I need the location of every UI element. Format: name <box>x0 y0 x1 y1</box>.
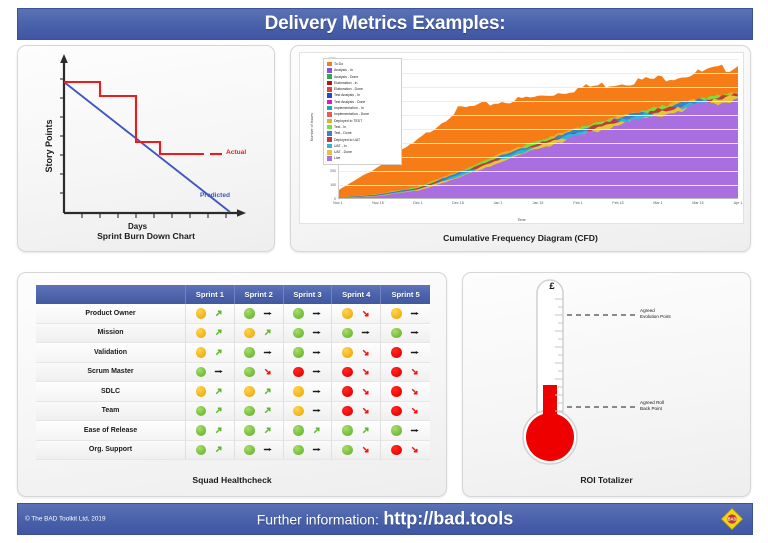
burndown-y-label: Story Points <box>44 119 54 172</box>
trend-up-arrow-icon <box>213 347 224 358</box>
cfd-legend-item: Live <box>327 155 399 161</box>
trend-up-arrow-icon <box>213 444 224 455</box>
trend-down-arrow-icon <box>409 405 420 416</box>
healthcheck-cell[interactable] <box>284 382 333 402</box>
cfd-x-tick-label: Jan 15 <box>533 201 544 205</box>
page-title: Delivery Metrics Examples: <box>265 13 506 35</box>
rag-status-amber <box>196 328 207 339</box>
healthcheck-cell[interactable] <box>235 402 284 422</box>
cfd-legend-swatch <box>327 137 332 142</box>
healthcheck-cell[interactable] <box>186 382 235 402</box>
cfd-legend: To DoAnalysis - InAnalysis - DoneElabora… <box>323 58 402 165</box>
table-row: Org. Support <box>36 441 430 461</box>
trend-up-arrow-icon <box>213 405 224 416</box>
rag-status-amber <box>342 308 353 319</box>
trend-flat-arrow-icon <box>409 347 420 358</box>
healthcheck-cell[interactable] <box>186 421 235 441</box>
evolution-point-label-line1: Agreed <box>640 308 655 313</box>
cfd-x-tick-label: Mar 1 <box>653 201 662 205</box>
trend-down-arrow-icon <box>360 444 371 455</box>
cfd-y-tick-label: 100 <box>330 183 336 187</box>
healthcheck-cell[interactable] <box>235 304 284 324</box>
rag-status-red <box>342 406 353 417</box>
healthcheck-cell[interactable] <box>235 441 284 461</box>
cfd-legend-swatch <box>327 125 332 130</box>
cfd-legend-label: Live <box>334 155 340 162</box>
cfd-legend-swatch <box>327 74 332 79</box>
trend-down-arrow-icon <box>360 347 371 358</box>
trend-flat-arrow-icon <box>262 347 273 358</box>
trend-flat-arrow-icon <box>311 347 322 358</box>
rag-status-green <box>293 308 304 319</box>
trend-flat-arrow-icon <box>311 405 322 416</box>
footer-bar: © The BAD Toolkit Ltd, 2019 Further info… <box>17 503 753 535</box>
healthcheck-cell[interactable] <box>235 382 284 402</box>
rag-status-green <box>293 347 304 358</box>
rag-status-amber <box>293 406 304 417</box>
cfd-legend-swatch <box>327 87 332 92</box>
healthcheck-table: Sprint 1Sprint 2Sprint 3Sprint 4Sprint 5… <box>36 285 430 460</box>
trend-down-arrow-icon <box>409 386 420 397</box>
healthcheck-cell[interactable] <box>332 363 381 383</box>
cfd-x-tick-label: Jan 1 <box>494 201 503 205</box>
trend-up-arrow-icon <box>213 386 224 397</box>
rollback-point-label-line2: Back Point <box>640 406 662 411</box>
healthcheck-cell[interactable] <box>381 382 430 402</box>
healthcheck-row-label: Product Owner <box>36 304 186 324</box>
cfd-legend-label: Analysis - In <box>334 67 353 74</box>
healthcheck-col-header-sprint-3: Sprint 3 <box>284 285 333 304</box>
rag-status-green <box>342 445 353 456</box>
rag-status-green <box>391 425 402 436</box>
rag-status-red <box>342 386 353 397</box>
healthcheck-cell[interactable] <box>284 441 333 461</box>
page-title-bar: Delivery Metrics Examples: <box>17 8 753 40</box>
trend-down-arrow-icon <box>262 366 273 377</box>
cfd-legend-swatch <box>327 100 332 105</box>
cfd-x-tick-label: Dec 1 <box>413 201 422 205</box>
trend-flat-arrow-icon <box>262 444 273 455</box>
cfd-gridline <box>338 185 738 186</box>
trend-flat-arrow-icon <box>311 327 322 338</box>
thermometer-graphic <box>463 273 752 498</box>
trend-flat-arrow-icon <box>360 327 371 338</box>
trend-flat-arrow-icon <box>311 444 322 455</box>
rag-status-green <box>196 406 207 417</box>
predicted-series-label: Predicted <box>200 192 230 199</box>
healthcheck-cell[interactable] <box>332 304 381 324</box>
trend-down-arrow-icon <box>360 366 371 377</box>
footer-further-info-label: Further information: <box>257 512 379 528</box>
actual-line <box>64 82 204 154</box>
rag-status-green <box>196 425 207 436</box>
healthcheck-cell[interactable] <box>186 441 235 461</box>
table-row: Team <box>36 402 430 422</box>
roi-caption: ROI Totalizer <box>463 475 750 485</box>
cfd-caption: Cumulative Frequency Diagram (CFD) <box>291 233 750 243</box>
healthcheck-cell[interactable] <box>186 402 235 422</box>
rag-status-green <box>244 406 255 417</box>
cfd-legend-label: Test - Done <box>334 130 352 137</box>
healthcheck-cell[interactable] <box>332 402 381 422</box>
rag-status-green <box>293 425 304 436</box>
trend-flat-arrow-icon <box>409 308 420 319</box>
rag-status-amber <box>391 308 402 319</box>
trend-up-arrow-icon <box>360 425 371 436</box>
rag-status-green <box>293 328 304 339</box>
healthcheck-cell[interactable] <box>235 343 284 363</box>
rag-status-amber <box>196 308 207 319</box>
cfd-y-tick-label: 200 <box>330 169 336 173</box>
rag-status-red <box>391 367 402 378</box>
cfd-legend-swatch <box>327 93 332 98</box>
cfd-legend-swatch <box>327 144 332 149</box>
trend-flat-arrow-icon <box>213 366 224 377</box>
burndown-x-label: Days <box>128 222 147 231</box>
healthcheck-row-label: Ease of Release <box>36 421 186 441</box>
healthcheck-cell[interactable] <box>381 304 430 324</box>
rag-status-green <box>391 328 402 339</box>
healthcheck-col-header-sprint-5: Sprint 5 <box>381 285 430 304</box>
cfd-chart: 10009008007006005004003002001000 Nov 1No… <box>299 52 744 224</box>
evolution-point-label: Agreed Evolution Point <box>640 308 710 320</box>
cfd-legend-swatch <box>327 112 332 117</box>
cfd-x-tick-label: Feb 1 <box>573 201 582 205</box>
healthcheck-cell[interactable] <box>284 304 333 324</box>
trend-up-arrow-icon <box>262 405 273 416</box>
healthcheck-cell[interactable] <box>235 324 284 344</box>
rag-status-red <box>391 347 402 358</box>
healthcheck-cell[interactable] <box>235 363 284 383</box>
healthcheck-cell[interactable] <box>332 441 381 461</box>
cfd-x-tick-label: Apr 1 <box>734 201 743 205</box>
rag-status-red <box>391 386 402 397</box>
healthcheck-col-header-sprint-2: Sprint 2 <box>235 285 284 304</box>
healthcheck-corner-header <box>36 285 186 304</box>
healthcheck-row-label: Team <box>36 402 186 422</box>
table-row: Product Owner <box>36 304 430 324</box>
rag-status-green <box>342 328 353 339</box>
healthcheck-cell[interactable] <box>235 421 284 441</box>
table-row: Scrum Master <box>36 363 430 383</box>
healthcheck-col-header-sprint-4: Sprint 4 <box>332 285 381 304</box>
trend-down-arrow-icon <box>360 386 371 397</box>
healthcheck-cell[interactable] <box>381 324 430 344</box>
rollback-point-label: Agreed Roll Back Point <box>640 400 710 412</box>
cfd-x-tick-label: Mar 15 <box>692 201 703 205</box>
healthcheck-row-label: Validation <box>36 343 186 363</box>
cfd-x-tick-label: Feb 15 <box>612 201 623 205</box>
healthcheck-cell[interactable] <box>381 421 430 441</box>
healthcheck-cell[interactable] <box>284 343 333 363</box>
healthcheck-caption: Squad Healthcheck <box>18 475 446 485</box>
rag-status-red <box>391 445 402 456</box>
rag-status-amber <box>196 347 207 358</box>
rag-status-amber <box>342 347 353 358</box>
trend-flat-arrow-icon <box>262 308 273 319</box>
sprint-burndown-panel: Story Points Actual Predicted Days Sprin… <box>17 45 275 252</box>
table-row: Validation <box>36 343 430 363</box>
squad-healthcheck-panel: Sprint 1Sprint 2Sprint 3Sprint 4Sprint 5… <box>17 272 447 497</box>
cfd-x-tick-label: Nov 15 <box>372 201 383 205</box>
healthcheck-cell[interactable] <box>332 324 381 344</box>
healthcheck-cell[interactable] <box>381 441 430 461</box>
rag-status-green <box>244 347 255 358</box>
rag-status-green <box>196 367 207 378</box>
evolution-point-label-line2: Evolution Point <box>640 314 671 319</box>
healthcheck-row-label: Org. Support <box>36 441 186 461</box>
burndown-caption: Sprint Burn Down Chart <box>18 231 274 241</box>
actual-series-label: Actual <box>226 149 246 156</box>
trend-flat-arrow-icon <box>409 327 420 338</box>
trend-flat-arrow-icon <box>311 366 322 377</box>
table-row: Ease of Release <box>36 421 430 441</box>
cfd-y-label: Number of Issues <box>310 97 314 157</box>
trend-down-arrow-icon <box>409 444 420 455</box>
footer-center: Further information: http://bad.tools <box>18 509 752 530</box>
cfd-legend-swatch <box>327 62 332 67</box>
healthcheck-row-label: Mission <box>36 324 186 344</box>
trend-up-arrow-icon <box>213 327 224 338</box>
healthcheck-cell[interactable] <box>186 304 235 324</box>
healthcheck-cell[interactable] <box>284 324 333 344</box>
cfd-x-axis-line <box>338 198 738 199</box>
healthcheck-row-label: SDLC <box>36 382 186 402</box>
rag-status-amber <box>244 328 255 339</box>
thermometer-column <box>543 385 557 430</box>
trend-flat-arrow-icon <box>409 425 420 436</box>
cfd-x-tick-label: Nov 1 <box>333 201 342 205</box>
rag-status-green <box>196 445 207 456</box>
healthcheck-header-row: Sprint 1Sprint 2Sprint 3Sprint 4Sprint 5 <box>36 285 430 304</box>
bad-logo-text: BAD <box>728 516 737 521</box>
bad-toolkit-logo-icon: BAD <box>721 508 743 530</box>
rag-status-red <box>391 406 402 417</box>
cfd-legend-swatch <box>327 81 332 86</box>
rollback-point-label-line1: Agreed Roll <box>640 400 664 405</box>
healthcheck-row-label: Scrum Master <box>36 363 186 383</box>
cfd-panel: 10009008007006005004003002001000 Nov 1No… <box>290 45 751 252</box>
rag-status-green <box>293 445 304 456</box>
healthcheck-cell[interactable] <box>381 343 430 363</box>
rag-status-green <box>342 425 353 436</box>
trend-up-arrow-icon <box>311 425 322 436</box>
cfd-gridline <box>338 171 738 172</box>
trend-up-arrow-icon <box>213 308 224 319</box>
cfd-legend-label: Implementation - Done <box>334 111 369 118</box>
healthcheck-cell[interactable] <box>381 402 430 422</box>
cfd-x-tick-label: Dec 15 <box>452 201 463 205</box>
roi-totalizer-panel: £ Agreed Evolution Point Agreed Roll Bac… <box>462 272 751 497</box>
healthcheck-cell[interactable] <box>332 421 381 441</box>
healthcheck-cell[interactable] <box>332 343 381 363</box>
healthcheck-cell[interactable] <box>186 343 235 363</box>
cfd-legend-swatch <box>327 156 332 161</box>
trend-up-arrow-icon <box>213 425 224 436</box>
trend-up-arrow-icon <box>262 327 273 338</box>
trend-flat-arrow-icon <box>311 386 322 397</box>
cfd-x-label: Time <box>300 218 743 222</box>
rag-status-green <box>244 445 255 456</box>
rag-status-amber <box>293 386 304 397</box>
currency-symbol: £ <box>539 281 565 292</box>
healthcheck-cell[interactable] <box>284 421 333 441</box>
rag-status-green <box>244 308 255 319</box>
trend-up-arrow-icon <box>262 386 273 397</box>
table-row: SDLC <box>36 382 430 402</box>
rag-status-green <box>244 367 255 378</box>
healthcheck-cell[interactable] <box>284 402 333 422</box>
healthcheck-cell[interactable] <box>284 363 333 383</box>
trend-down-arrow-icon <box>360 405 371 416</box>
cfd-legend-swatch <box>327 106 332 111</box>
rag-status-amber <box>196 386 207 397</box>
trend-down-arrow-icon <box>409 366 420 377</box>
rag-status-green <box>244 425 255 436</box>
footer-url-link[interactable]: http://bad.tools <box>383 509 513 529</box>
cfd-legend-swatch <box>327 68 332 73</box>
cfd-legend-swatch <box>327 131 332 136</box>
rag-status-red <box>293 367 304 378</box>
trend-down-arrow-icon <box>360 308 371 319</box>
healthcheck-cell[interactable] <box>332 382 381 402</box>
healthcheck-cell[interactable] <box>186 324 235 344</box>
cfd-legend-swatch <box>327 119 332 124</box>
table-row: Mission <box>36 324 430 344</box>
cfd-legend-swatch <box>327 150 332 155</box>
rag-status-red <box>342 367 353 378</box>
healthcheck-col-header-sprint-1: Sprint 1 <box>186 285 235 304</box>
healthcheck-cell[interactable] <box>381 363 430 383</box>
rag-status-amber <box>244 386 255 397</box>
healthcheck-cell[interactable] <box>186 363 235 383</box>
trend-flat-arrow-icon <box>311 308 322 319</box>
trend-up-arrow-icon <box>262 425 273 436</box>
